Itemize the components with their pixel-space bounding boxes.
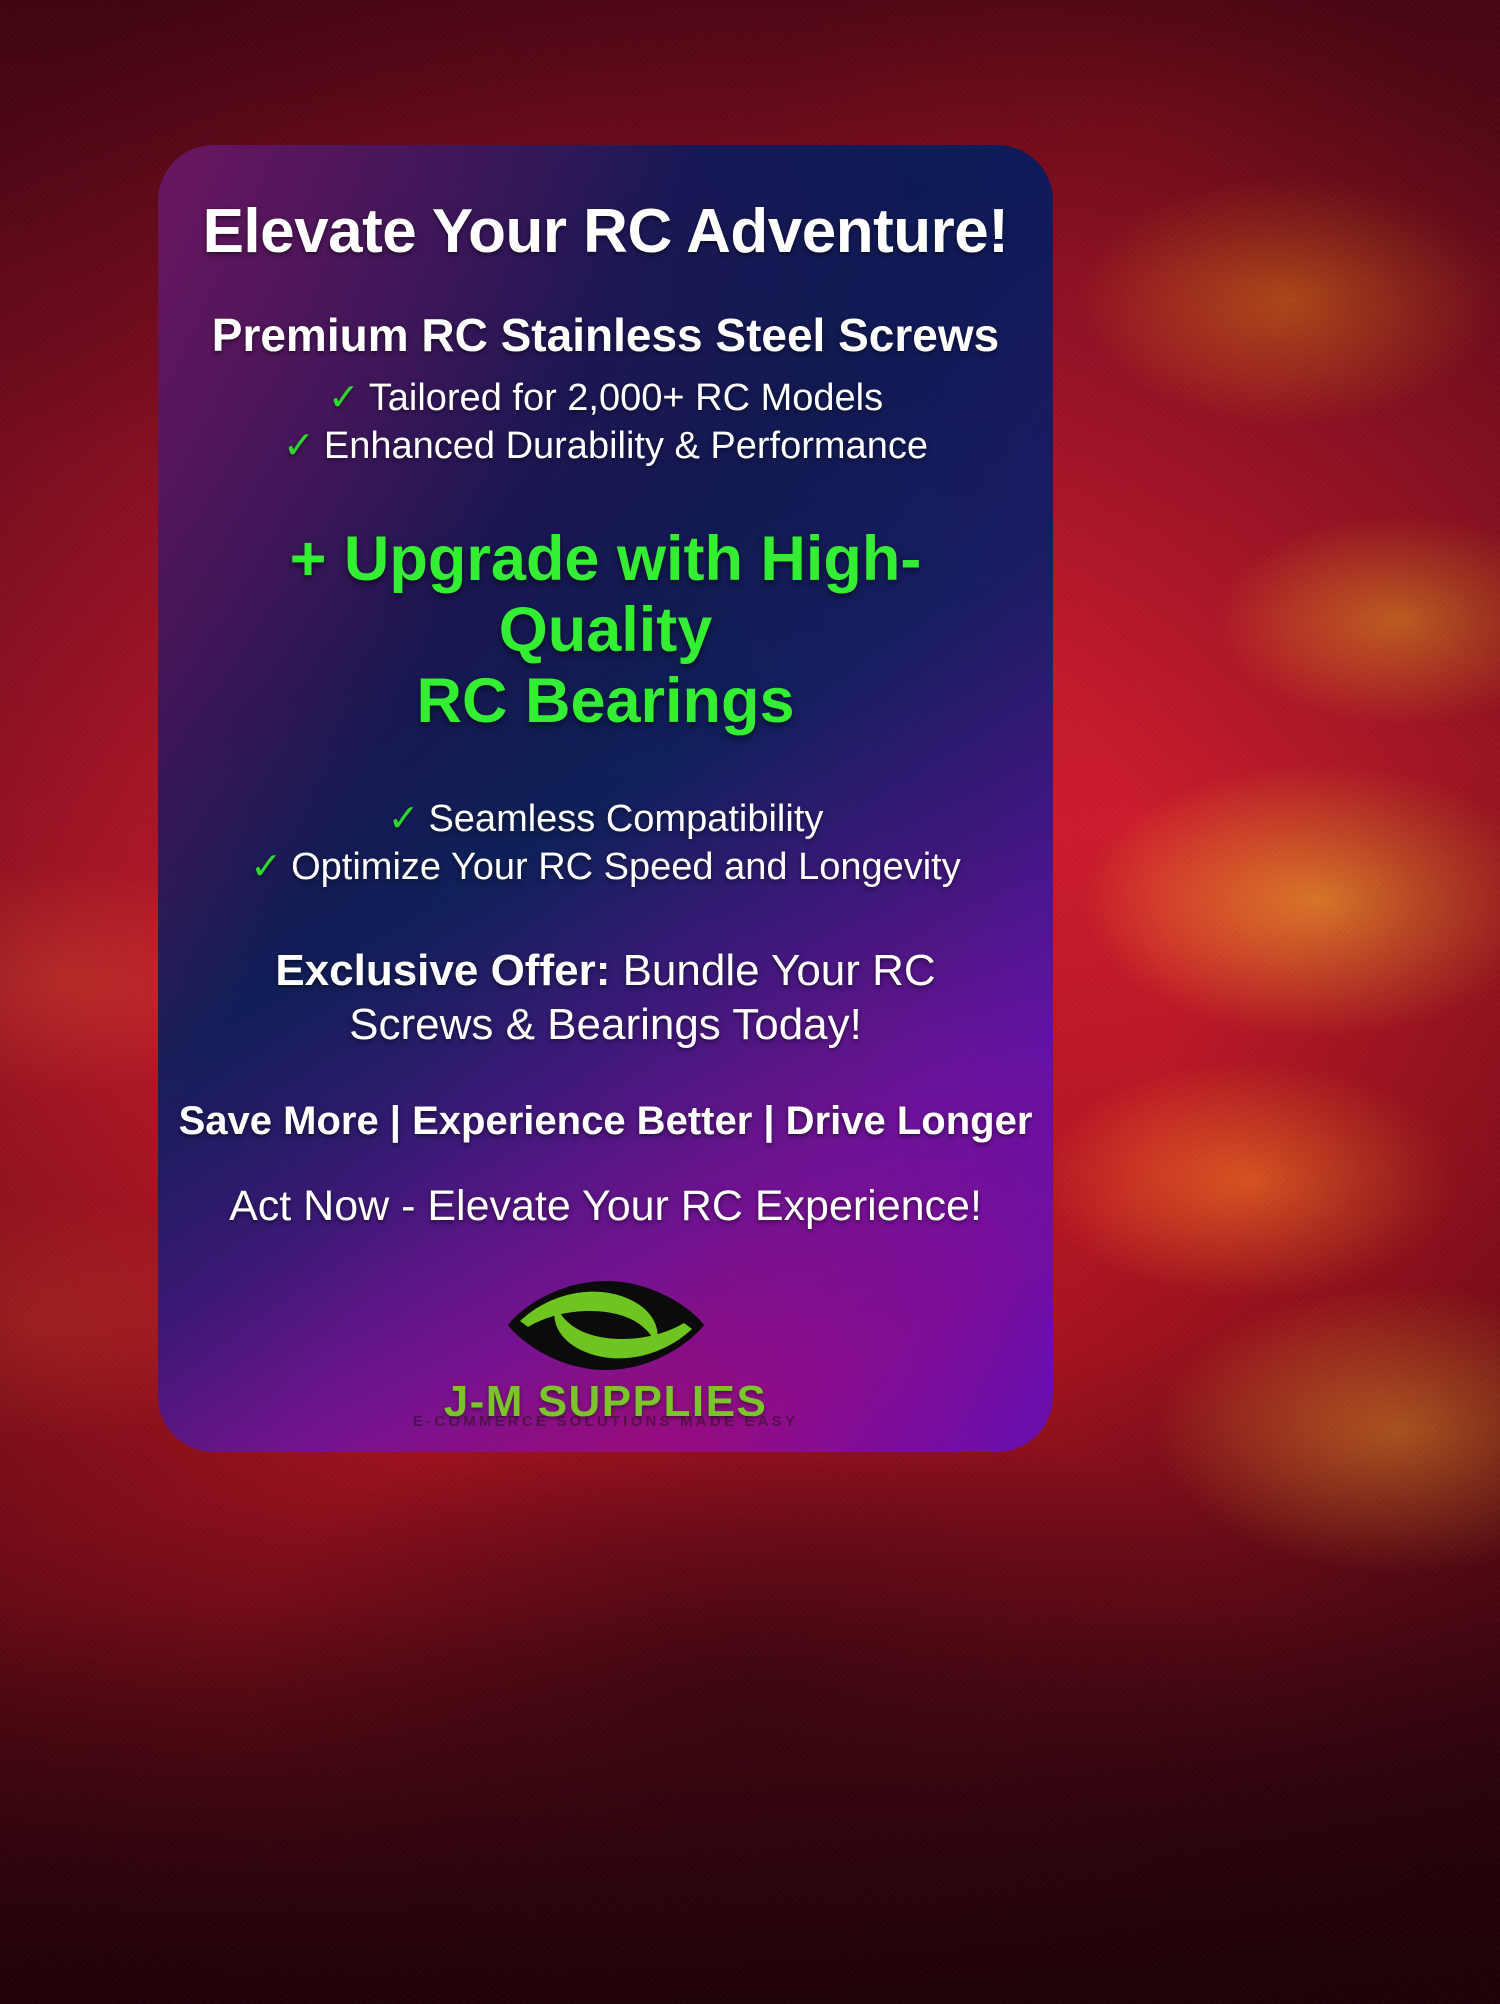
eye-swoosh-icon xyxy=(506,1273,706,1378)
value-pillars: Save More | Experience Better | Drive Lo… xyxy=(179,1099,1033,1144)
poster-canvas: Elevate Your RC Adventure! Premium RC St… xyxy=(0,0,1500,2004)
list-item: ✓Enhanced Durability & Performance xyxy=(283,423,928,471)
list-item-label: Enhanced Durability & Performance xyxy=(324,425,928,467)
offer-line1-rest: Bundle Your RC xyxy=(610,946,935,995)
call-to-action-text: Act Now - Elevate Your RC Experience! xyxy=(229,1182,982,1231)
check-icon: ✓ xyxy=(388,798,420,840)
feature-list-top: ✓Tailored for 2,000+ RC Models ✓Enhanced… xyxy=(283,375,928,471)
logo-tagline: E-COMMERCE SOLUTIONS MADE EASY xyxy=(413,1414,798,1429)
upgrade-headline-line1: Upgrade with High-Quality xyxy=(344,524,921,665)
subheading-product: Premium RC Stainless Steel Screws xyxy=(212,310,999,361)
list-item: ✓Tailored for 2,000+ RC Models xyxy=(283,375,928,423)
list-item-label: Tailored for 2,000+ RC Models xyxy=(369,377,883,419)
upgrade-headline: + Upgrade with High-Quality RC Bearings xyxy=(192,524,1019,736)
logo-text-group: J-M SUPPLIES E-COMMERCE SOLUTIONS MADE E… xyxy=(413,1380,798,1429)
card-content: Elevate Your RC Adventure! Premium RC St… xyxy=(158,145,1053,1452)
offer-label: Exclusive Offer: xyxy=(275,946,610,995)
list-item: ✓Seamless Compatibility xyxy=(250,796,960,844)
plus-sign: + xyxy=(290,524,327,594)
list-item-label: Optimize Your RC Speed and Longevity xyxy=(291,846,961,888)
upgrade-headline-line2: RC Bearings xyxy=(416,666,794,736)
exclusive-offer-text: Exclusive Offer: Bundle Your RC Screws &… xyxy=(251,944,959,1051)
brand-logo: J-M SUPPLIES E-COMMERCE SOLUTIONS MADE E… xyxy=(413,1273,798,1429)
list-item: ✓Optimize Your RC Speed and Longevity xyxy=(250,844,960,892)
promo-card: Elevate Your RC Adventure! Premium RC St… xyxy=(158,145,1053,1452)
check-icon: ✓ xyxy=(328,377,360,419)
list-item-label: Seamless Compatibility xyxy=(428,798,823,840)
check-icon: ✓ xyxy=(283,425,315,467)
feature-list-mid: ✓Seamless Compatibility ✓Optimize Your R… xyxy=(250,796,960,892)
check-icon: ✓ xyxy=(250,846,282,888)
page-title: Elevate Your RC Adventure! xyxy=(203,199,1009,264)
offer-line2: Screws & Bearings Today! xyxy=(349,1000,862,1049)
